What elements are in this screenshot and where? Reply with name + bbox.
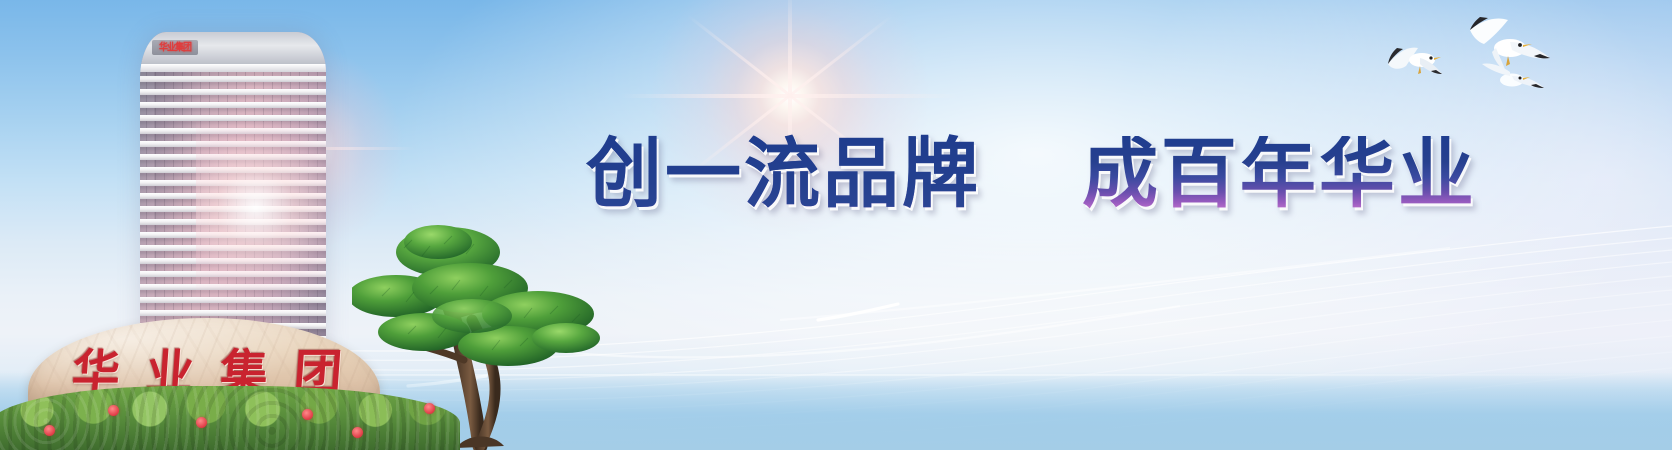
hedge-flower [424,403,435,414]
rooftop-sign: 华业集团 [152,40,198,55]
green-hedge [0,386,460,450]
seagull-small-icon [1388,48,1442,74]
seagull-large-icon [1470,17,1550,72]
hedge-flower [352,427,363,438]
hedge-flower [108,405,119,416]
rooftop-sign-label: 华业集团 [159,42,191,52]
hedge-flower [44,425,55,436]
hedge-flower [196,417,207,428]
page-title: 创一流品牌 成百年华业 [586,128,1366,220]
huaye-tower: 华业集团 [140,18,340,350]
slogan-phrase-two: 成百年华业 [1082,129,1477,218]
seagull-rear-icon [1482,63,1544,88]
slogan-text: 创一流品牌 成百年华业 [586,136,1477,212]
corporate-hero-banner: 华业集团 [0,0,1672,450]
seagull-group-icon [1384,8,1574,118]
slogan-phrase-one: 创一流品牌 [586,129,981,218]
tower-floor-slabs [140,32,326,350]
hedge-flower [302,409,313,420]
